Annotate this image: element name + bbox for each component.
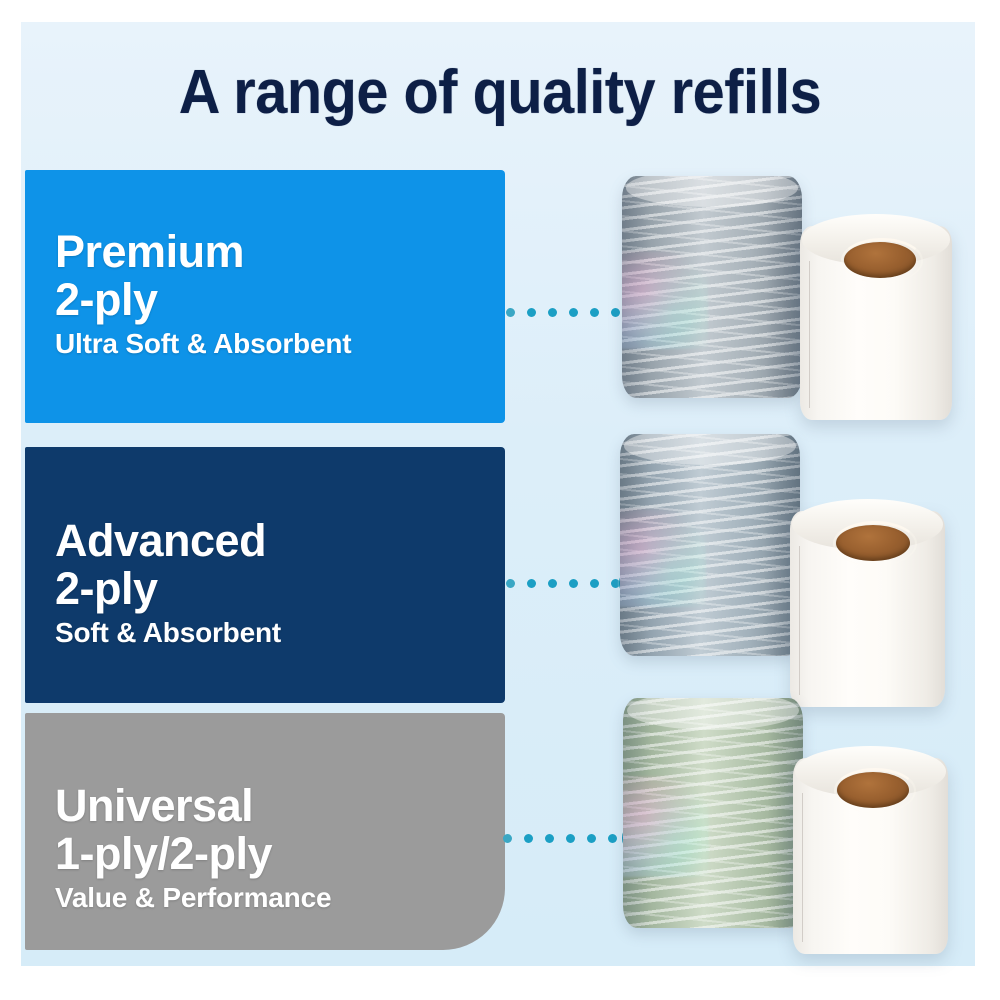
connector-dot (548, 308, 557, 317)
wrapped-roll-universal (623, 698, 803, 928)
tier-panel-universal[interactable]: Universal 1-ply/2-ply Value & Performanc… (25, 713, 505, 950)
roll-seam (799, 546, 800, 695)
tier-name-premium: Premium (55, 228, 505, 275)
tier-subtitle-universal: Value & Performance (55, 882, 505, 914)
connector-dot (608, 834, 617, 843)
roll-core-highlight (833, 521, 917, 566)
wrapped-roll-advanced (620, 434, 800, 656)
plain-roll-universal (793, 758, 948, 954)
connector-dot (569, 308, 578, 317)
plain-roll-premium (800, 226, 952, 420)
connector-dot (548, 579, 557, 588)
roll-seam (809, 261, 810, 408)
roll-core-highlight (841, 238, 923, 283)
roll-iridescent-sheen (623, 776, 709, 877)
plain-roll-advanced (790, 511, 945, 707)
connector-dot (569, 579, 578, 588)
tier-subtitle-advanced: Soft & Absorbent (55, 617, 505, 649)
roll-seam (802, 793, 803, 942)
connector-dot (590, 579, 599, 588)
connector-dot (506, 579, 515, 588)
connector-dot (524, 834, 533, 843)
tier-ply-premium: 2-ply (55, 276, 505, 323)
tier-text-block-universal: Universal 1-ply/2-ply Value & Performanc… (55, 782, 505, 914)
roll-iridescent-sheen (622, 251, 708, 349)
connector-dot (566, 834, 575, 843)
tier-ply-universal: 1-ply/2-ply (55, 830, 505, 877)
roll-core-highlight (834, 768, 916, 813)
tier-ply-advanced: 2-ply (55, 565, 505, 612)
page-title: A range of quality refills (35, 58, 965, 128)
connector-dot (545, 834, 554, 843)
roll-iridescent-sheen (620, 509, 706, 607)
connector-dot (527, 308, 536, 317)
tier-panel-advanced[interactable]: Advanced 2-ply Soft & Absorbent (25, 447, 505, 703)
connector-dot (590, 308, 599, 317)
tier-panel-premium[interactable]: Premium 2-ply Ultra Soft & Absorbent (25, 170, 505, 423)
infographic-stage: A range of quality refills Premium 2-ply… (0, 0, 1000, 1000)
connector-dot (587, 834, 596, 843)
tier-subtitle-premium: Ultra Soft & Absorbent (55, 328, 505, 360)
tier-name-universal: Universal (55, 782, 505, 829)
tier-name-advanced: Advanced (55, 517, 505, 564)
tier-text-block-advanced: Advanced 2-ply Soft & Absorbent (55, 517, 505, 649)
connector-dot (611, 308, 620, 317)
connector-dot (503, 834, 512, 843)
roll-shadow-right (766, 176, 802, 398)
connector-dot (506, 308, 515, 317)
wrapped-roll-premium (622, 176, 802, 398)
connector-dot (527, 579, 536, 588)
tier-text-block-premium: Premium 2-ply Ultra Soft & Absorbent (55, 228, 505, 360)
